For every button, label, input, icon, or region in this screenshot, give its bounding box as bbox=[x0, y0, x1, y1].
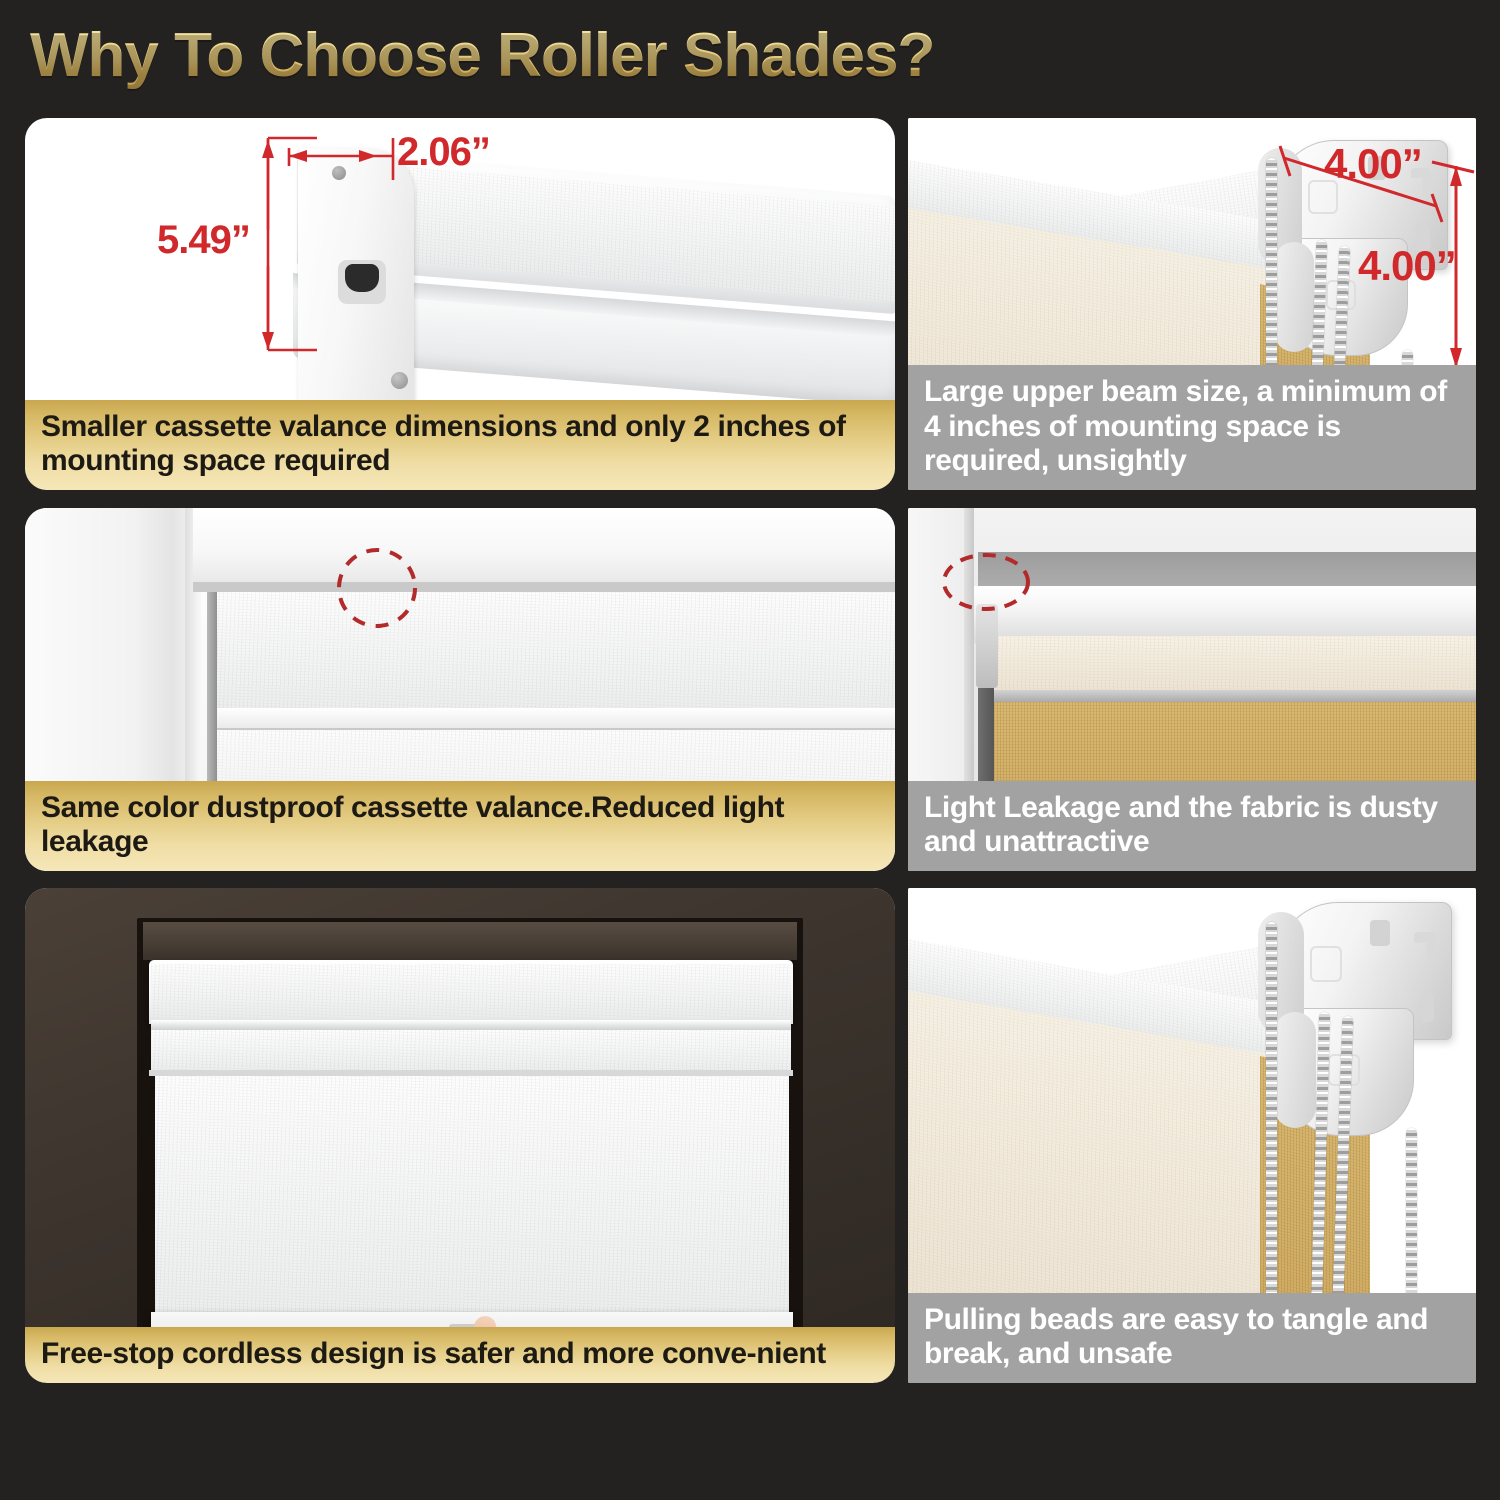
cream-fabric-band bbox=[986, 636, 1476, 694]
bracket-emboss-1 bbox=[1310, 946, 1342, 982]
page-title: Why To Choose Roller Shades? bbox=[30, 20, 934, 91]
beam-height-dimension-label: 4.00” bbox=[1358, 242, 1456, 290]
screw-top bbox=[332, 166, 346, 180]
tube-end-disc-lower bbox=[1274, 242, 1314, 352]
panel-light-leakage-dusty-fabric: Large gap Light Leakage and the fabric i… bbox=[908, 508, 1476, 871]
valance-lower-lip bbox=[215, 708, 895, 730]
panel-caption-cassette-valance-dimensions: Smaller cassette valance dimensions and … bbox=[25, 400, 895, 490]
tube-end-disc-lower bbox=[1274, 1012, 1316, 1128]
panel-dustproof-cassette-valance: smaller gap Same color dustproof cassett… bbox=[25, 508, 895, 871]
panel-free-stop-cordless-design: Free-stop cordless design is safer and m… bbox=[25, 888, 895, 1383]
panel-caption-pulling-beads-tangle: Pulling beads are easy to tangle and bre… bbox=[908, 1293, 1476, 1383]
window-head-jamb bbox=[143, 922, 797, 960]
cassette-seam bbox=[151, 1020, 791, 1030]
head-casing bbox=[193, 508, 895, 588]
bracket-slot-3 bbox=[1420, 992, 1434, 1022]
height-dimension-label: 5.49” bbox=[157, 218, 250, 263]
width-dimension-label: 2.06” bbox=[397, 130, 490, 175]
panel-pulling-beads-tangle: Pulling beads are easy to tangle and bre… bbox=[908, 888, 1476, 1383]
bracket-slot-1 bbox=[1370, 920, 1390, 946]
cassette-texture bbox=[151, 964, 791, 1018]
cordless-window-artwork bbox=[25, 888, 895, 1383]
valance-fabric-band bbox=[215, 592, 895, 714]
panel-large-upper-beam: 4.00” 4.00” Large upper beam size, a min… bbox=[908, 118, 1476, 490]
panel-caption-large-upper-beam: Large upper beam size, a minimum of 4 in… bbox=[908, 365, 1476, 490]
panel-cassette-valance-dimensions: 2.06” 5.49” Smaller cassette valance dim… bbox=[25, 118, 895, 490]
screw-middle bbox=[391, 372, 408, 389]
mechanism-slot bbox=[345, 264, 379, 292]
panel-caption-free-stop-cordless-design: Free-stop cordless design is safer and m… bbox=[25, 1327, 895, 1383]
panel-caption-dustproof-cassette-valance: Same color dustproof cassette valance.Re… bbox=[25, 781, 895, 871]
valance-lower-band bbox=[151, 1030, 791, 1072]
beam-width-dimension-label: 4.00” bbox=[1324, 140, 1422, 188]
end-bracket bbox=[976, 604, 998, 688]
panel-caption-light-leakage-dusty-fabric: Light Leakage and the fabric is dusty an… bbox=[908, 781, 1476, 871]
shade-fabric-main bbox=[155, 1076, 789, 1316]
casing-shadow-line bbox=[193, 582, 895, 592]
fabric-divider bbox=[986, 690, 1476, 702]
